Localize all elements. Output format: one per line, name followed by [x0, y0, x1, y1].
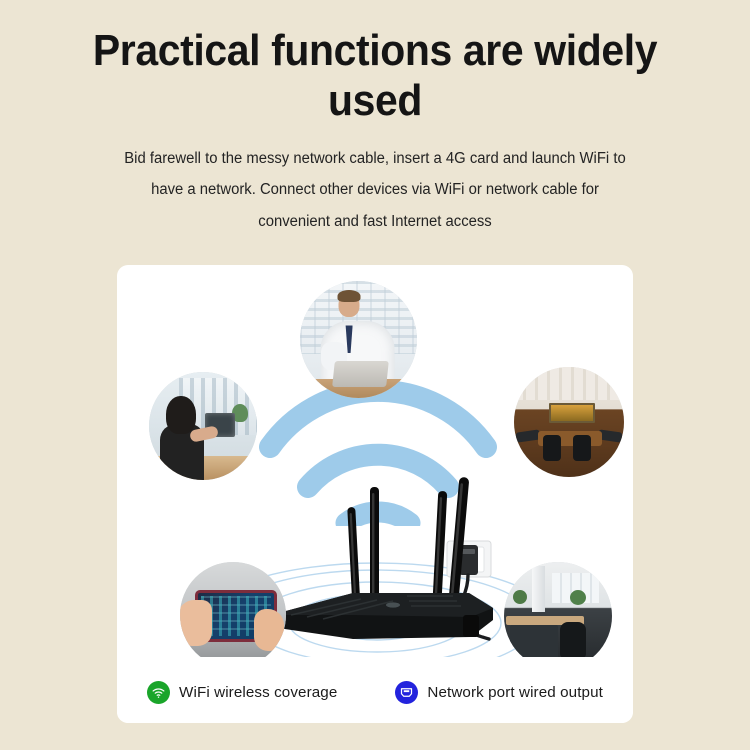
photo-woman-at-desk: [149, 372, 257, 480]
wifi-signal-icon: [147, 681, 170, 704]
legend-label-ethernet: Network port wired output: [427, 684, 603, 701]
promo-page: Practical functions are widely used Bid …: [0, 0, 750, 750]
legend-item-ethernet: Network port wired output: [395, 681, 603, 704]
legend-label-wifi: WiFi wireless coverage: [179, 684, 337, 701]
photo-hands-holding-phone: [180, 562, 286, 668]
illustration-stage: [117, 265, 633, 723]
illustration-card: WiFi wireless coverage Network port wire…: [117, 265, 633, 723]
page-title: Practical functions are widely used: [26, 0, 724, 125]
photo-businessman-with-laptop: [300, 281, 417, 398]
page-subtitle: Bid farewell to the messy network cable,…: [11, 125, 739, 236]
photo-open-plan-office: [504, 562, 612, 670]
ethernet-port-icon: [395, 681, 418, 704]
header-block: Practical functions are widely used Bid …: [0, 0, 750, 237]
photo-conference-room: [514, 367, 624, 477]
legend-bar: WiFi wireless coverage Network port wire…: [117, 657, 633, 723]
legend-item-wifi: WiFi wireless coverage: [147, 681, 337, 704]
